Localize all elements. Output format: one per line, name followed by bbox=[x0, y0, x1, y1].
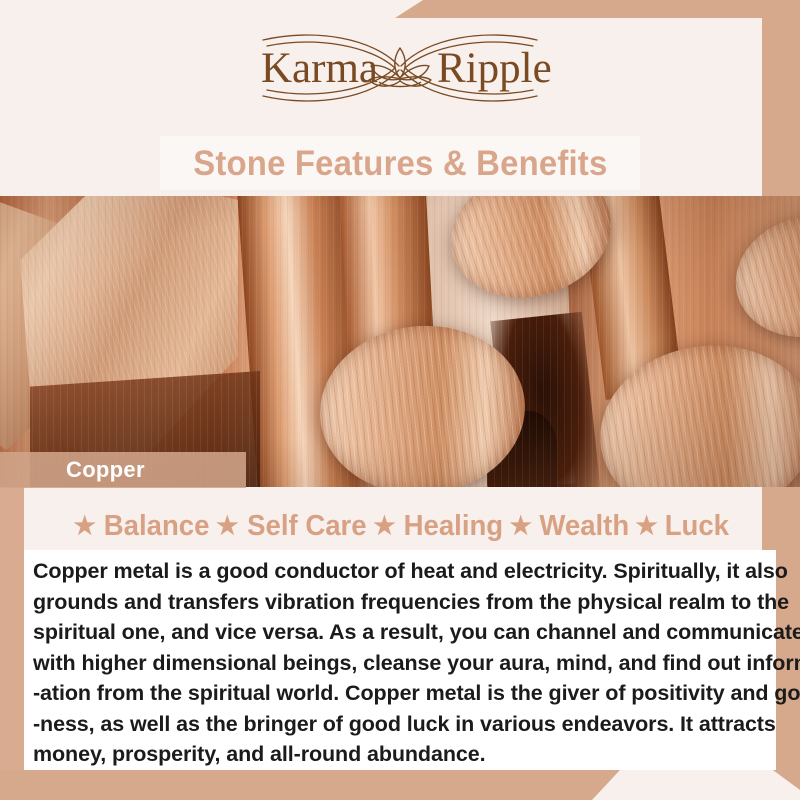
benefit-label: Self Care bbox=[247, 512, 366, 541]
photo-caption-label: Copper bbox=[66, 459, 145, 481]
benefit-item-healing: ★ Healing bbox=[369, 512, 505, 541]
star-icon: ★ bbox=[73, 514, 95, 539]
decor-band-bottom-left bbox=[0, 770, 620, 800]
description-line: Copper metal is a good conductor of heat… bbox=[33, 556, 775, 587]
star-icon: ★ bbox=[635, 514, 657, 539]
star-icon: ★ bbox=[216, 514, 238, 539]
benefits-row: ★ Balance ★ Self Care ★ Healing ★ Wealth… bbox=[0, 505, 800, 547]
copper-bars-photo bbox=[0, 196, 800, 487]
description-card: Copper metal is a good conductor of heat… bbox=[24, 550, 776, 770]
benefit-label: Luck bbox=[665, 512, 729, 541]
benefit-item-self-care: ★ Self Care bbox=[212, 512, 369, 541]
title-banner: Stone Features & Benefits bbox=[160, 136, 640, 190]
benefit-item-wealth: ★ Wealth bbox=[505, 512, 631, 541]
description-line: money, prosperity, and all-round abundan… bbox=[33, 739, 775, 770]
brand-name-left: Karma bbox=[261, 45, 378, 92]
description-line: -ness, as well as the bringer of good lu… bbox=[33, 709, 775, 740]
benefit-item-balance: ★ Balance bbox=[69, 512, 212, 541]
description-line: -ation from the spiritual world. Copper … bbox=[33, 678, 775, 709]
photo-artwork bbox=[0, 196, 800, 487]
description-line: spiritual one, and vice versa. As a resu… bbox=[33, 617, 775, 648]
description-line: with higher dimensional beings, cleanse … bbox=[33, 648, 775, 679]
brand-logo: Karma Ripple bbox=[0, 26, 800, 110]
page-title: Stone Features & Benefits bbox=[193, 146, 607, 181]
brand-name-right: Ripple bbox=[437, 45, 552, 92]
lotus-icon: Karma Ripple bbox=[165, 26, 635, 110]
photo-caption-banner: Copper bbox=[0, 452, 246, 488]
benefit-label: Wealth bbox=[539, 512, 629, 541]
star-icon: ★ bbox=[373, 514, 395, 539]
benefit-label: Healing bbox=[403, 512, 503, 541]
description-text: Copper metal is a good conductor of heat… bbox=[33, 556, 775, 770]
poster-canvas: Karma Ripple Stone Features & Benefits bbox=[0, 0, 800, 800]
benefit-label: Balance bbox=[104, 512, 210, 541]
star-icon: ★ bbox=[509, 514, 531, 539]
benefit-item-luck: ★ Luck bbox=[631, 512, 730, 541]
description-line: grounds and transfers vibration frequenc… bbox=[33, 587, 775, 618]
